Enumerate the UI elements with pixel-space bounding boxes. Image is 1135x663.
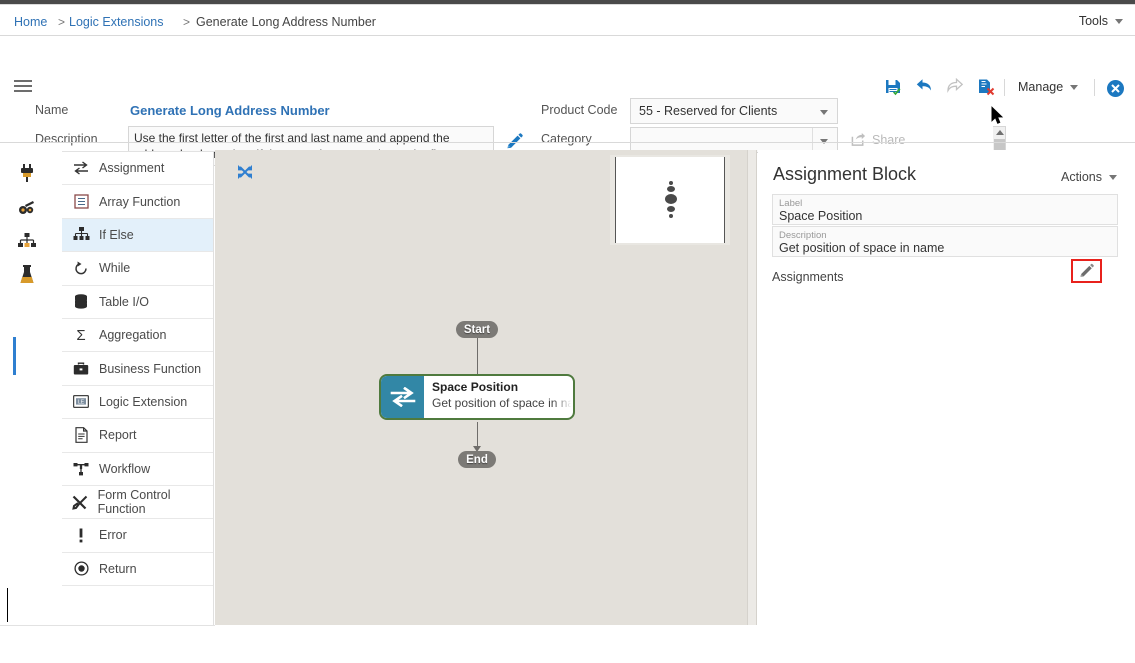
chevron-down-icon	[820, 110, 828, 115]
tools-icon	[70, 493, 91, 511]
share-label: Share	[872, 133, 905, 147]
fit-to-screen-icon[interactable]	[237, 164, 253, 185]
return-icon	[70, 560, 92, 578]
tools-menu-label: Tools	[1079, 14, 1108, 28]
category-divider	[812, 128, 813, 152]
flow-node-start[interactable]: Start	[456, 321, 498, 338]
palette-item-table-io[interactable]: Table I/O	[62, 286, 214, 319]
svg-text:LE: LE	[78, 400, 85, 406]
redo-icon	[946, 78, 964, 96]
briefcase-icon	[70, 360, 92, 378]
canvas-minimap[interactable]	[610, 155, 730, 245]
palette-item-report[interactable]: Report	[62, 419, 214, 452]
palette-right-edge	[213, 151, 214, 626]
breadcrumb-home[interactable]: Home	[14, 15, 47, 29]
rail-item-logic-extension[interactable]	[14, 228, 40, 254]
flow-node-subtitle: Get position of space in name	[432, 396, 573, 410]
rail-item-test[interactable]	[14, 262, 40, 288]
palette-item-if-else[interactable]: If Else	[62, 219, 214, 252]
product-code-select[interactable]: 55 - Reserved for Clients	[630, 98, 838, 124]
close-circle-icon	[1107, 80, 1124, 97]
properties-panel: Assignment Block Actions Label Space Pos…	[758, 150, 1135, 625]
close-button[interactable]	[1107, 80, 1124, 102]
breadcrumb-logic-extensions[interactable]: Logic Extensions	[69, 15, 164, 29]
chevron-down-icon	[1109, 175, 1117, 180]
text-caret	[7, 588, 8, 622]
toolbar-divider-1	[1004, 79, 1005, 96]
minimap-node-a	[667, 186, 675, 192]
rail-item-connector[interactable]	[14, 160, 40, 186]
chevron-down-icon	[1070, 85, 1078, 90]
save-icon	[884, 78, 902, 96]
product-code-value: 55 - Reserved for Clients	[639, 104, 777, 118]
palette-item-return[interactable]: Return	[62, 553, 214, 586]
palette-item-label: Workflow	[99, 462, 150, 476]
palette-item-form-control-function[interactable]: Form Control Function	[62, 486, 214, 519]
palette-item-label: Table I/O	[99, 295, 149, 309]
palette-item-label: Report	[99, 428, 137, 442]
rail-selection-indicator	[13, 337, 16, 375]
assignment-icon	[70, 159, 92, 177]
branch-icon	[70, 226, 92, 244]
palette-item-label: Business Function	[99, 362, 201, 376]
minimap-node-start	[669, 181, 673, 185]
description-field[interactable]: Description Get position of space in nam…	[772, 226, 1118, 257]
minimap-node-b	[667, 206, 675, 212]
flow-node-end[interactable]: End	[458, 451, 496, 468]
logic-extension-icon: LE	[70, 393, 92, 411]
manage-label: Manage	[1018, 80, 1063, 94]
assignment-icon	[381, 376, 424, 418]
canvas-vertical-scrollbar[interactable]	[747, 150, 757, 625]
icon-rail	[0, 143, 52, 625]
hierarchy-icon	[17, 232, 37, 250]
palette-item-label: While	[99, 261, 130, 275]
label-field-caption: Label	[779, 198, 1111, 209]
palette-item-logic-extension[interactable]: LE Logic Extension	[62, 386, 214, 419]
exclamation-icon	[70, 526, 92, 544]
palette-item-label: Form Control Function	[98, 488, 214, 516]
minimap-viewport	[615, 157, 725, 243]
loop-icon	[70, 259, 92, 277]
category-label: Category	[541, 132, 592, 146]
panel-title: Assignment Block	[773, 164, 916, 185]
palette-item-while[interactable]: While	[62, 252, 214, 285]
palette-item-label: Error	[99, 528, 127, 542]
array-icon	[70, 193, 92, 211]
flow-node-title: Space Position	[432, 380, 573, 394]
breadcrumb-logic-extensions-link[interactable]: Logic Extensions	[69, 15, 164, 29]
palette-item-error[interactable]: Error	[62, 519, 214, 552]
breadcrumb-home-link[interactable]: Home	[14, 15, 47, 29]
undo-button[interactable]	[915, 78, 933, 101]
actions-label: Actions	[1061, 170, 1102, 184]
breadcrumb-bar: Home > Logic Extensions > Generate Long …	[0, 5, 1135, 35]
share-icon	[851, 132, 866, 147]
header-form: Name Generate Long Address Number Descri…	[0, 36, 1135, 142]
hamburger-icon[interactable]	[14, 80, 32, 92]
gears-icon	[17, 198, 37, 216]
flow-canvas[interactable]: Start Space Position Get position of spa…	[215, 150, 747, 625]
description-field-value: Get position of space in name	[779, 241, 1111, 256]
palette-item-assignment[interactable]: Assignment	[62, 152, 214, 185]
palette-item-business-function[interactable]: Business Function	[62, 352, 214, 385]
flask-icon	[19, 265, 35, 285]
redo-button	[946, 78, 964, 101]
sigma-icon: Σ	[70, 326, 92, 344]
palette-item-label: If Else	[99, 228, 134, 242]
palette-item-workflow[interactable]: Workflow	[62, 453, 214, 486]
header-divider	[0, 142, 1135, 143]
breadcrumb-current: Generate Long Address Number	[196, 15, 376, 29]
label-field[interactable]: Label Space Position	[772, 194, 1118, 225]
product-code-label: Product Code	[541, 103, 617, 117]
actions-menu[interactable]: Actions	[1061, 170, 1117, 184]
manage-menu[interactable]: Manage	[1018, 80, 1078, 94]
toolbar-divider-2	[1094, 79, 1095, 96]
palette-item-label: Return	[99, 562, 137, 576]
flow-edge-block-to-end	[477, 422, 478, 448]
rail-item-orchestration[interactable]	[14, 194, 40, 220]
delete-document-icon	[977, 78, 995, 96]
undo-icon	[915, 78, 933, 96]
palette-item-label: Assignment	[99, 161, 164, 175]
label-field-value: Space Position	[779, 209, 1111, 224]
report-icon	[70, 426, 92, 444]
name-label: Name	[35, 103, 68, 117]
pencil-icon	[1078, 263, 1095, 280]
flow-edge-start-to-block	[477, 338, 478, 376]
scroll-up-icon[interactable]	[996, 130, 1004, 135]
palette-item-array-function[interactable]: Array Function	[62, 185, 214, 218]
plug-icon	[18, 163, 36, 183]
palette-item-label: Aggregation	[99, 328, 166, 342]
description-field-caption: Description	[779, 230, 1111, 241]
mouse-cursor	[991, 106, 1004, 130]
palette-item-label: Array Function	[99, 195, 180, 209]
minimap-node-block	[665, 194, 677, 204]
database-icon	[70, 293, 92, 311]
flow-node-space-position[interactable]: Space Position Get position of space in …	[379, 374, 575, 420]
page-title: Generate Long Address Number	[130, 103, 330, 118]
palette-item-label: Logic Extension	[99, 395, 187, 409]
tools-menu[interactable]: Tools	[1079, 14, 1123, 28]
palette-item-aggregation[interactable]: Σ Aggregation	[62, 319, 214, 352]
delete-button[interactable]	[977, 78, 995, 101]
workflow-icon	[70, 460, 92, 478]
edit-assignments-button[interactable]	[1071, 259, 1102, 283]
block-palette: Assignment Array Function If Else While …	[62, 151, 214, 626]
minimap-node-end	[669, 214, 673, 218]
save-button[interactable]	[884, 78, 902, 101]
flow-node-text: Space Position Get position of space in …	[424, 376, 573, 418]
assignments-label: Assignments	[772, 270, 844, 284]
share-button[interactable]: Share	[851, 132, 905, 147]
chevron-down-icon	[1115, 19, 1123, 24]
breadcrumb-separator-2: >	[183, 15, 190, 29]
palette-bottom-divider	[0, 625, 215, 626]
breadcrumb-separator-1: >	[58, 15, 65, 29]
